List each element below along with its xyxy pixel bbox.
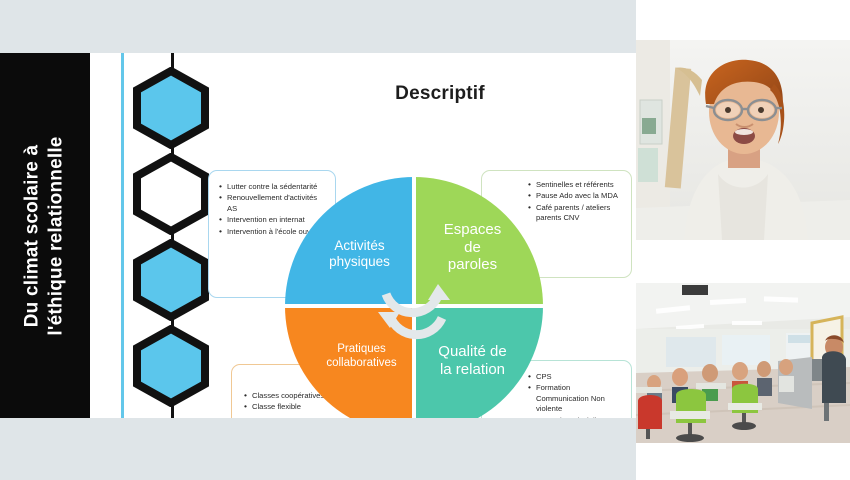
list-item: Sentinelles et référents <box>528 180 623 190</box>
cycle-arrows-icon <box>364 256 464 356</box>
four-quadrant-wheel: Activités physiques Espaces de paroles P… <box>285 177 543 418</box>
list-item: CPS <box>528 372 623 382</box>
hexagon-icon <box>132 153 210 235</box>
presentation-slide: Du climat scolaire à l'éthique relationn… <box>0 53 636 418</box>
video-tile-classroom[interactable] <box>636 283 850 443</box>
list-item: Formation Discipline Positive <box>528 416 623 418</box>
slide-title: Descriptif <box>330 83 550 105</box>
hexagon-icon <box>132 67 210 149</box>
video-tile-strip <box>636 0 850 480</box>
hexagon-chain-decoration <box>132 53 212 418</box>
slide-side-title-band: Du climat scolaire à l'éthique relationn… <box>0 53 90 418</box>
list-item: Intervention en internat <box>219 215 327 225</box>
video-tile-speaker[interactable] <box>636 40 850 240</box>
meeting-stage: Du climat scolaire à l'éthique relationn… <box>0 0 850 480</box>
strip-gap <box>636 0 850 40</box>
list-item: Renouvellement d'activités AS <box>219 193 327 214</box>
classroom-camera-feed <box>636 283 850 443</box>
slide-side-title: Du climat scolaire à l'éthique relationn… <box>21 71 70 401</box>
shared-screen-region[interactable]: Du climat scolaire à l'éthique relationn… <box>0 0 636 480</box>
callout-list: CPS Formation Communication Non violente… <box>528 372 623 418</box>
list-item: Café parents / ateliers parents CNV <box>528 203 623 224</box>
list-item: Formation Communication Non violente <box>528 383 623 414</box>
strip-gap <box>636 240 850 283</box>
speaker-camera-feed <box>636 40 850 240</box>
list-item: Lutter contre la sédentarité <box>219 182 327 192</box>
hexagon-icon <box>132 239 210 321</box>
callout-list: Sentinelles et référents Pause Ado avec … <box>528 180 623 224</box>
list-item: Pause Ado avec la MDA <box>528 191 623 201</box>
accent-rule <box>121 53 124 418</box>
strip-gap <box>636 443 850 480</box>
hexagon-icon <box>132 325 210 407</box>
